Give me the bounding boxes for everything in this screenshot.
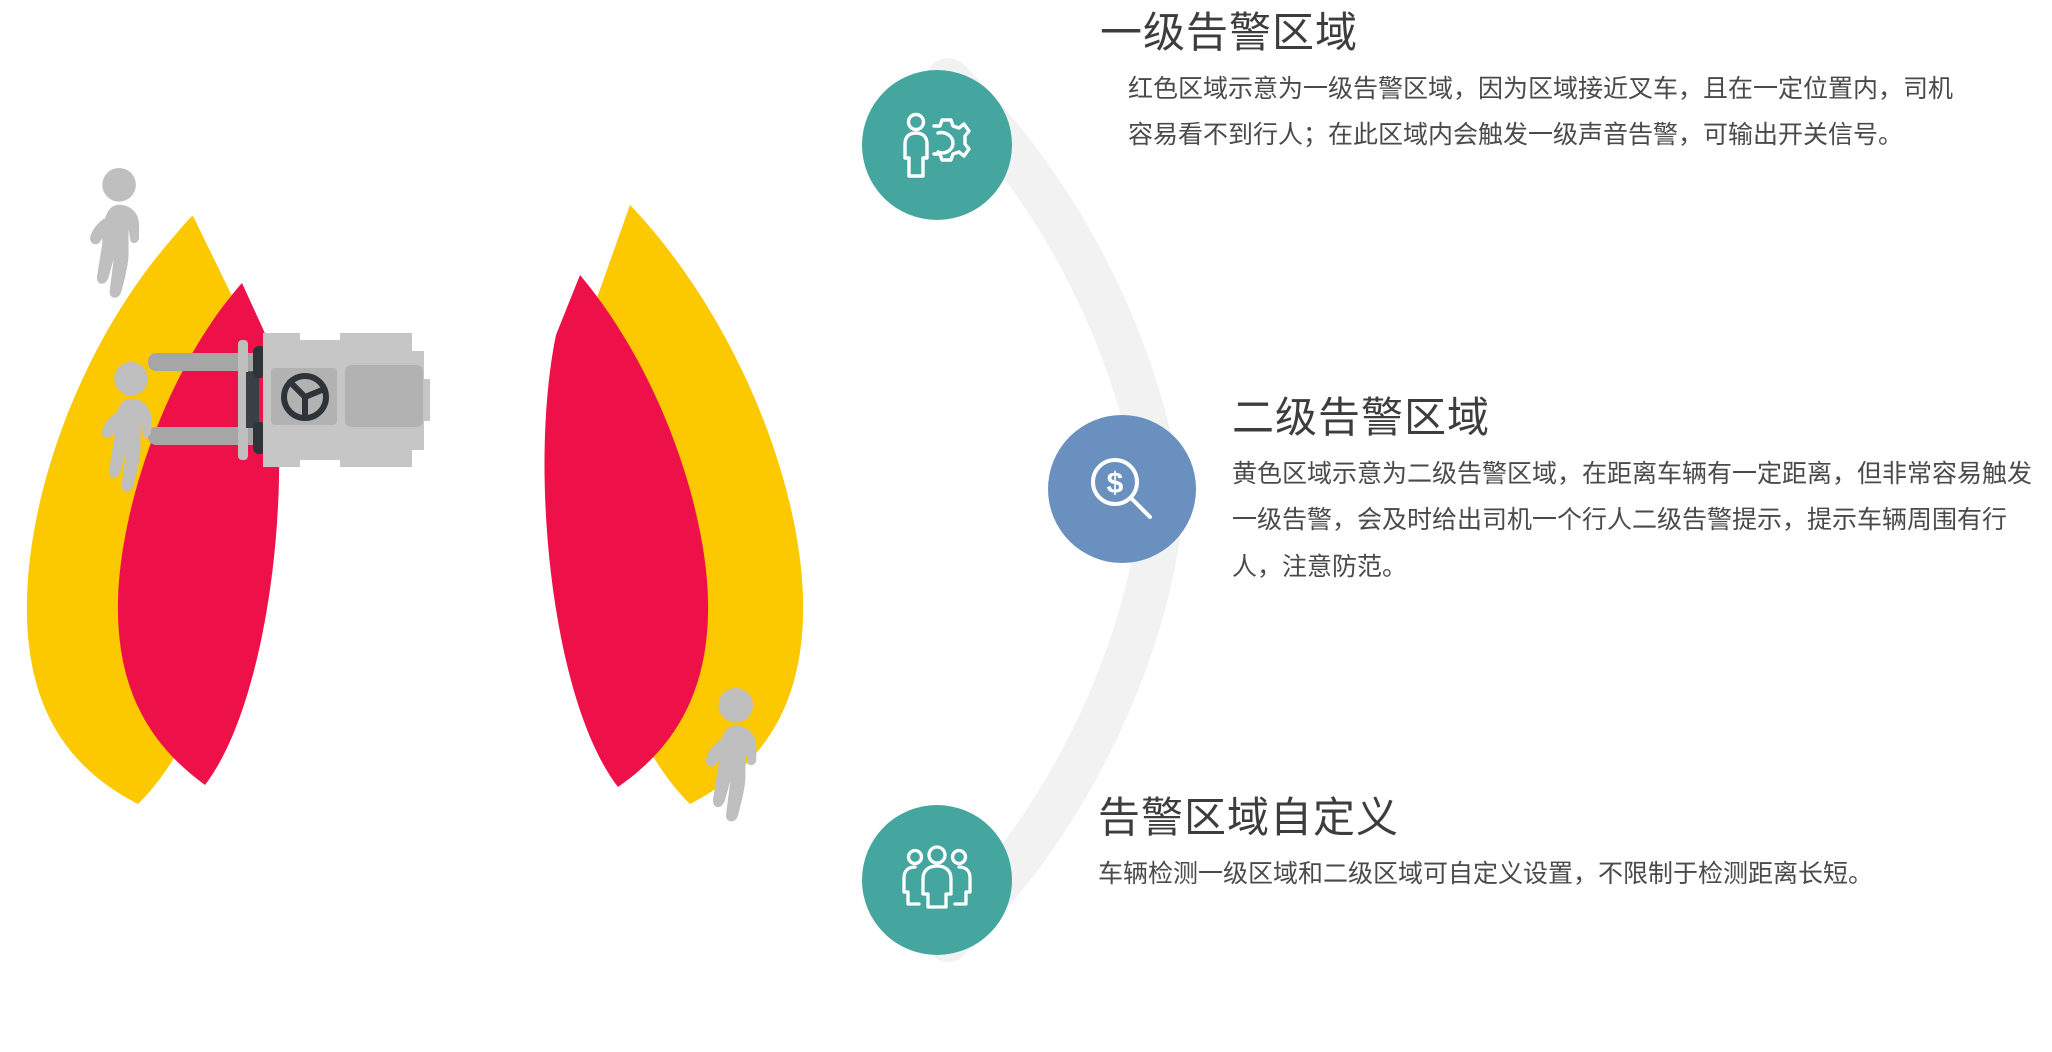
section-body-custom: 车辆检测一级区域和二级区域可自定义设置，不限制于检测距离长短。 bbox=[1098, 851, 1898, 897]
pedestrian-upper-left bbox=[90, 168, 139, 298]
carriage-frame bbox=[238, 368, 246, 432]
section-level-2: 二级告警区域 黄色区域示意为二级告警区域，在距离车辆有一定距离，但非常容易触发一… bbox=[1232, 395, 2052, 590]
section-title-level-2: 二级告警区域 bbox=[1232, 395, 2052, 441]
dollar-glyph: $ bbox=[1107, 467, 1124, 500]
section-body-level-1: 红色区域示意为一级告警区域，因为区域接近叉车，且在一定位置内，司机容易看不到行人… bbox=[1128, 66, 1958, 159]
section-level-1: 一级告警区域 红色区域示意为一级告警区域，因为区域接近叉车，且在一定位置内，司机… bbox=[1100, 10, 1980, 159]
person-gear-icon bbox=[898, 106, 976, 184]
group-people-icon bbox=[899, 842, 975, 918]
fork-upper bbox=[148, 353, 268, 371]
badge-level-1[interactable] bbox=[862, 70, 1012, 220]
section-title-custom: 告警区域自定义 bbox=[1098, 795, 1928, 841]
section-custom: 告警区域自定义 车辆检测一级区域和二级区域可自定义设置，不限制于检测距离长短。 bbox=[1098, 795, 1928, 897]
magnifier-dollar-icon: $ bbox=[1084, 451, 1160, 527]
forklift-zones-illustration bbox=[0, 0, 900, 1052]
seat-panel bbox=[345, 365, 423, 427]
section-title-level-1: 一级告警区域 bbox=[1100, 10, 1980, 56]
section-body-level-2: 黄色区域示意为二级告警区域，在距离车辆有一定距离，但非常容易触发一级告警，会及时… bbox=[1232, 451, 2052, 590]
fork-lower bbox=[148, 427, 268, 445]
badge-custom[interactable] bbox=[862, 805, 1012, 955]
badge-level-2[interactable]: $ bbox=[1048, 415, 1196, 563]
